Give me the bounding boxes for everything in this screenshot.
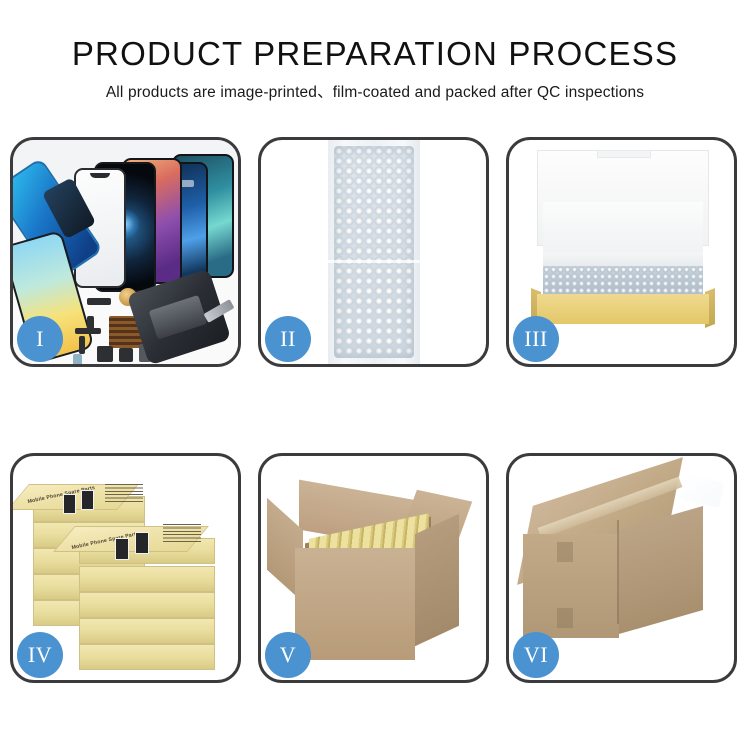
retail-box — [79, 566, 215, 592]
mailer-box-front-panel — [537, 294, 709, 324]
carton-flap-tab-upper — [557, 542, 573, 562]
bubble-wrap-bubbles — [334, 146, 414, 358]
sealed-carton-side — [619, 506, 703, 634]
process-step-panel-3: III — [506, 137, 737, 367]
step-badge-5: V — [265, 632, 311, 678]
process-step-panel-5: V — [258, 453, 489, 683]
process-step-panel-4: Mobile Phone Spare Parts Mobile Phone Sp… — [10, 453, 241, 683]
step-badge-2: II — [265, 316, 311, 362]
carton-body-side — [415, 514, 459, 647]
spare-part-screw — [87, 316, 94, 330]
carton-plastic-wrap — [680, 474, 725, 508]
retail-box-window — [63, 494, 76, 514]
spare-part-camera-module — [97, 346, 113, 362]
process-step-panel-1: I — [10, 137, 241, 367]
mailer-box-bubble-wrap — [543, 266, 703, 296]
retail-box — [79, 592, 215, 618]
process-step-panel-6: VI — [506, 453, 737, 683]
spare-part-flex-tail — [79, 336, 85, 354]
bubble-wrap-seam — [328, 260, 420, 263]
spare-part-sim-tray — [73, 354, 82, 364]
process-step-grid: I II III — [10, 137, 740, 682]
carton-body-front — [295, 548, 415, 660]
process-step-panel-2: II — [258, 137, 489, 367]
spare-part-connector — [87, 298, 111, 305]
retail-box-window — [81, 490, 94, 510]
carton-flap-tab-lower — [557, 608, 573, 628]
product-preparation-infographic: PRODUCT PREPARATION PROCESS All products… — [0, 0, 750, 750]
retail-box — [79, 644, 215, 670]
retail-box — [79, 618, 215, 644]
step-badge-3: III — [513, 316, 559, 362]
spare-part-taptic-engine — [119, 348, 133, 362]
carton-corner-seam — [617, 520, 619, 624]
retail-box-window — [115, 538, 129, 560]
retail-box-spec-lines — [163, 524, 201, 544]
retail-box-window — [135, 532, 149, 554]
step-badge-4: IV — [17, 632, 63, 678]
header: PRODUCT PREPARATION PROCESS All products… — [0, 0, 750, 102]
retail-box-spec-lines — [105, 484, 143, 504]
page-subtitle: All products are image-printed、film-coat… — [0, 80, 750, 102]
step-badge-1: I — [17, 316, 63, 362]
step-badge-6: VI — [513, 632, 559, 678]
page-title: PRODUCT PREPARATION PROCESS — [0, 34, 750, 74]
